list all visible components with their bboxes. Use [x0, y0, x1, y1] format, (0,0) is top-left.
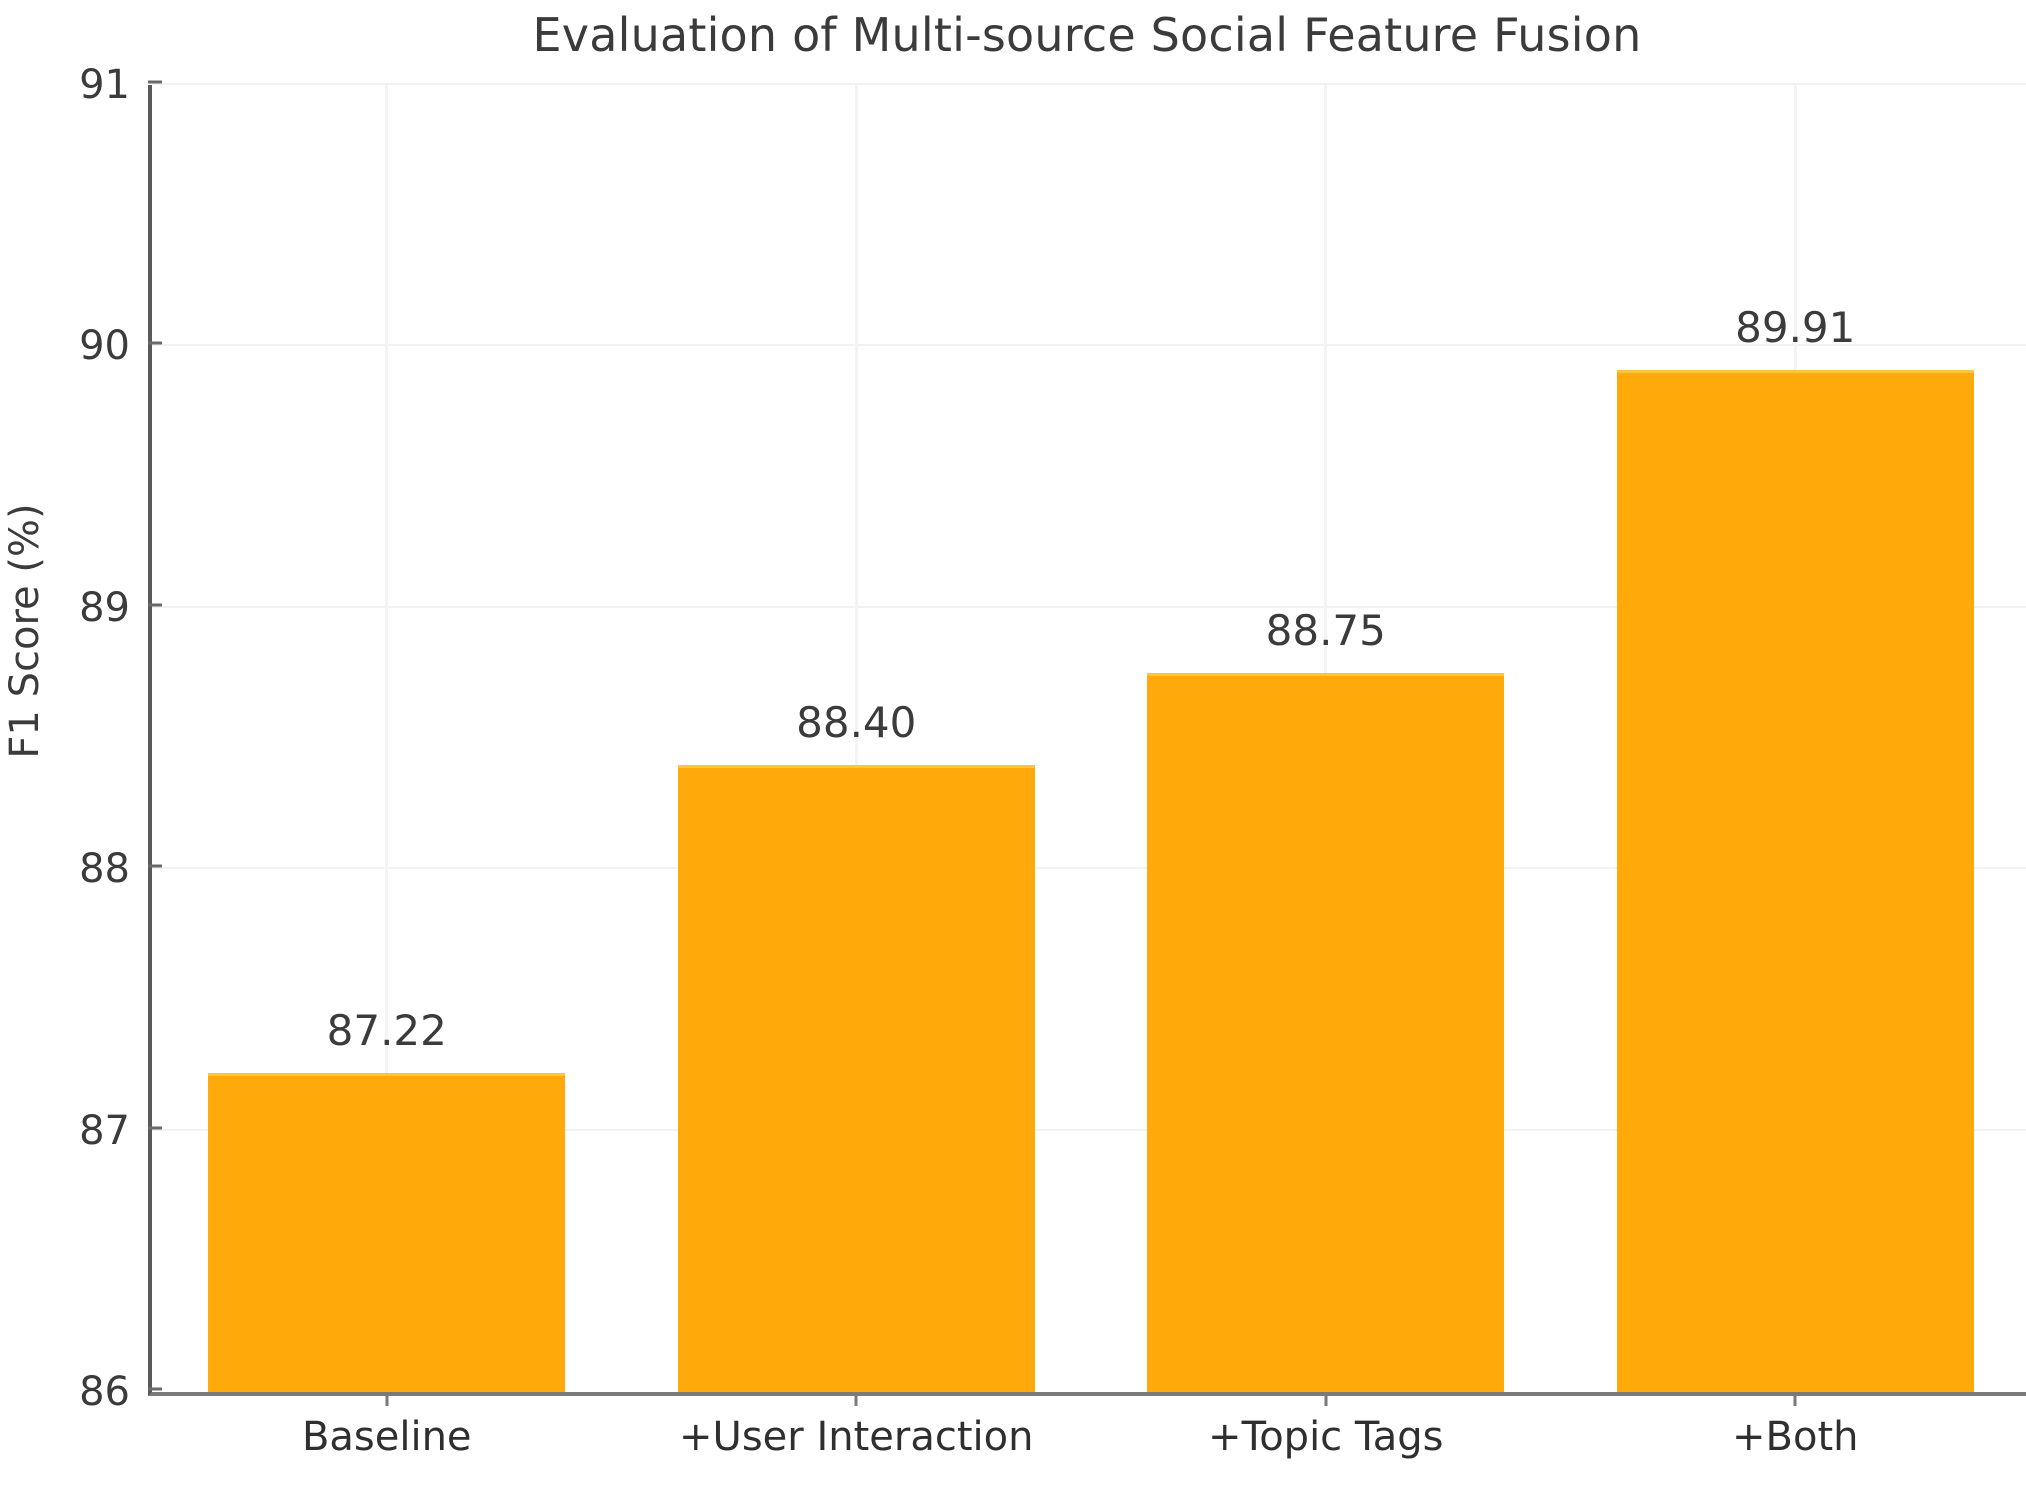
bar-2[interactable]	[678, 765, 1035, 1392]
bar-3[interactable]	[1147, 673, 1504, 1392]
y-tick-label: 86	[79, 1369, 152, 1415]
bar-1[interactable]	[208, 1073, 565, 1392]
bar-value-label: 89.91	[1735, 303, 1855, 352]
chart-title: Evaluation of Multi-source Social Featur…	[148, 8, 2026, 62]
y-tick-label: 88	[79, 846, 152, 892]
y-axis-label: F1 Score (%)	[2, 471, 48, 791]
y-tick-label: 90	[79, 323, 152, 369]
y-tick-label: 91	[79, 62, 152, 108]
y-tick-label: 87	[79, 1108, 152, 1154]
bar-value-label: 88.40	[796, 698, 916, 747]
x-tick-label-3: +Topic Tags	[1208, 1392, 1443, 1460]
plot-area: 86878889909187.22Baseline88.40+User Inte…	[148, 85, 2026, 1396]
x-tick-label-2: +User Interaction	[679, 1392, 1033, 1460]
chart-figure: Evaluation of Multi-source Social Featur…	[0, 0, 2026, 1503]
bar-value-label: 87.22	[327, 1006, 447, 1055]
y-tick-label: 89	[79, 585, 152, 631]
bar-value-label: 88.75	[1266, 606, 1386, 655]
x-tick-label-4: +Both	[1732, 1392, 1858, 1460]
bar-4[interactable]	[1617, 370, 1974, 1392]
x-tick-label-1: Baseline	[302, 1392, 472, 1460]
gridline-horizontal	[152, 83, 2026, 85]
